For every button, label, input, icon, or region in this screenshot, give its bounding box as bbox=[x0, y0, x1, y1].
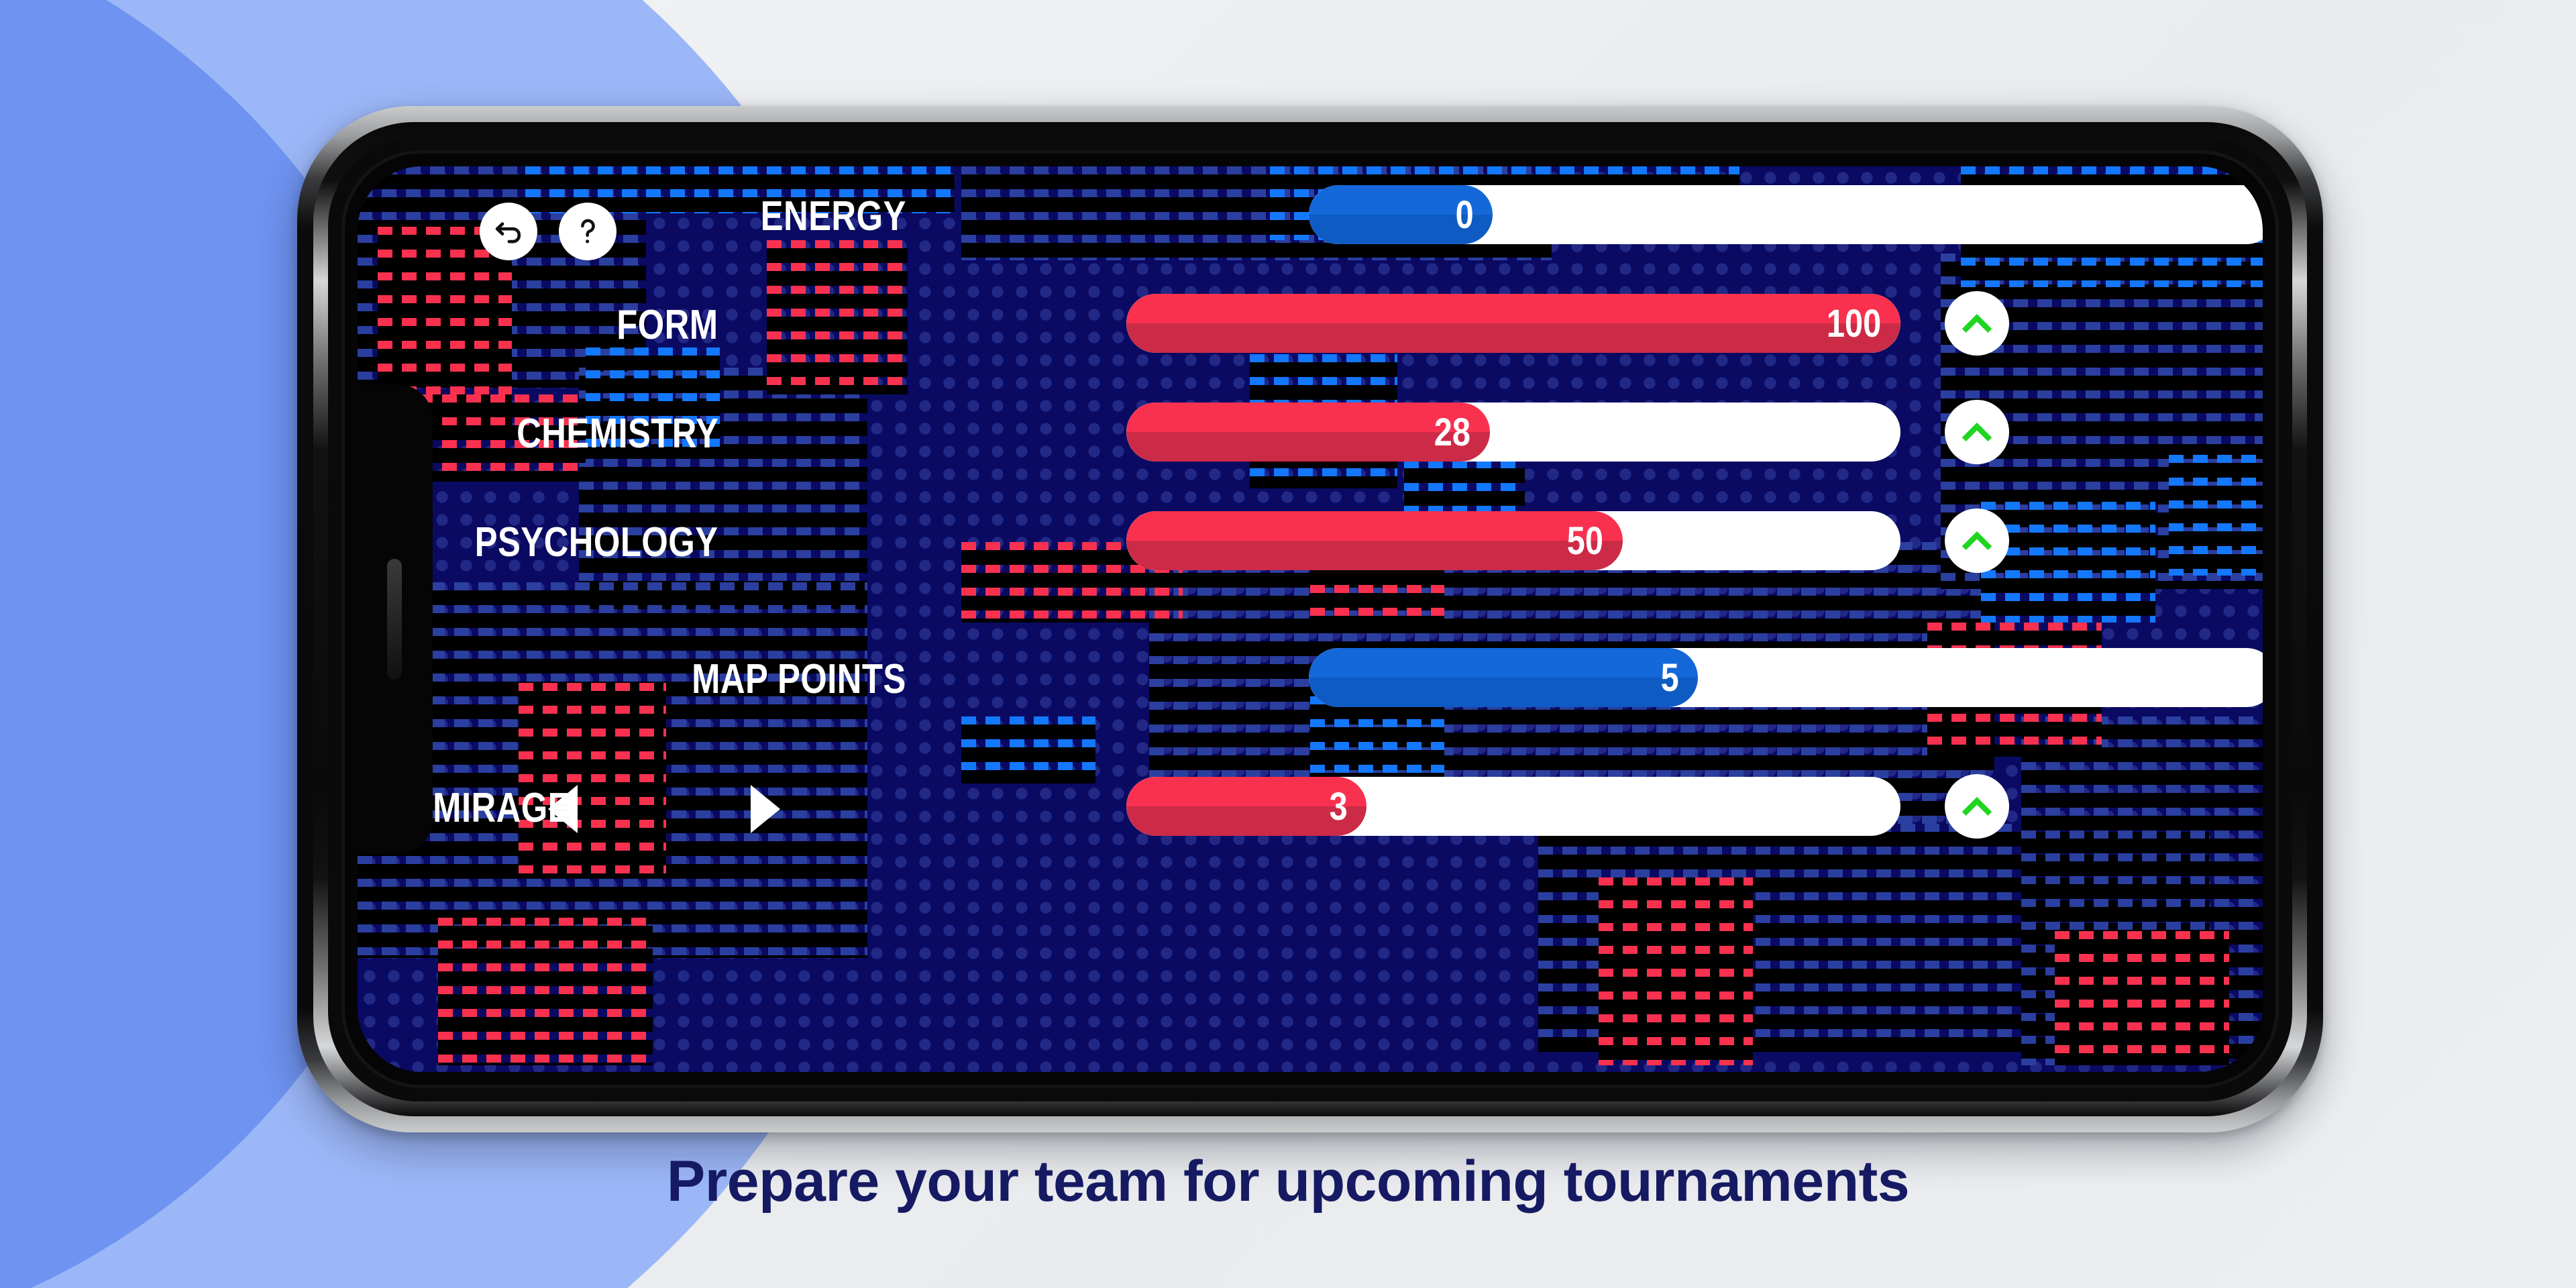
upgrade-button-psychology[interactable] bbox=[1945, 508, 2009, 573]
stat-row-form: FORM 100 bbox=[358, 294, 2263, 357]
stat-fill-energy: 0 bbox=[1309, 185, 1493, 244]
map-points-fill: 3 bbox=[1126, 777, 1366, 836]
stat-label-psychology: PSYCHOLOGY bbox=[475, 511, 718, 574]
stat-value-form: 100 bbox=[1827, 301, 1900, 346]
stat-fill-psychology: 50 bbox=[1126, 511, 1623, 570]
stat-track-map-points[interactable]: 5 bbox=[1309, 648, 2263, 707]
chevron-up-icon bbox=[1957, 304, 1996, 343]
stat-value-psychology: 50 bbox=[1567, 519, 1623, 563]
stat-label-energy: ENERGY bbox=[761, 185, 906, 248]
stat-fill-form: 100 bbox=[1126, 294, 1900, 353]
stat-row-chemistry: CHEMISTRY 28 bbox=[358, 402, 2263, 466]
upgrade-button-map[interactable] bbox=[1945, 774, 2009, 839]
chevron-up-icon bbox=[1957, 787, 1996, 826]
stat-label-map-points: MAP POINTS bbox=[692, 648, 906, 711]
phone-screen: ENERGY 0 FORM 100 bbox=[358, 166, 2263, 1072]
stat-fill-chemistry: 28 bbox=[1126, 402, 1490, 462]
app-store-screenshot: ENERGY 0 FORM 100 bbox=[0, 0, 2576, 1288]
map-selector-row: MIRAGE 3 bbox=[358, 777, 2263, 840]
stat-track-form[interactable]: 100 bbox=[1126, 294, 1900, 353]
stat-value-chemistry: 28 bbox=[1434, 410, 1490, 455]
chevron-up-icon bbox=[1957, 521, 1996, 560]
upgrade-button-form[interactable] bbox=[1945, 291, 2009, 356]
stat-track-energy[interactable]: 0 bbox=[1309, 185, 2263, 244]
triangle-right-icon[interactable] bbox=[751, 785, 780, 833]
stat-row-psychology: PSYCHOLOGY 50 bbox=[358, 511, 2263, 574]
stat-value-map-points: 5 bbox=[1660, 655, 1698, 700]
stat-row-map-points: MAP POINTS 5 bbox=[358, 648, 2263, 711]
stat-fill-map-points: 5 bbox=[1309, 648, 1698, 707]
map-name-label: MIRAGE bbox=[433, 777, 571, 840]
stat-row-energy: ENERGY 0 bbox=[358, 185, 2263, 248]
map-points-value: 3 bbox=[1329, 784, 1366, 829]
map-points-track[interactable]: 3 bbox=[1126, 777, 1900, 836]
caption-text: Prepare your team for upcoming tournamen… bbox=[0, 1148, 2576, 1215]
stat-label-chemistry: CHEMISTRY bbox=[517, 402, 718, 466]
upgrade-button-chemistry[interactable] bbox=[1945, 400, 2009, 464]
stat-value-energy: 0 bbox=[1455, 193, 1493, 237]
chevron-up-icon bbox=[1957, 413, 1996, 451]
phone-device-frame: ENERGY 0 FORM 100 bbox=[297, 106, 2323, 1132]
stat-track-chemistry[interactable]: 28 bbox=[1126, 402, 1900, 462]
stat-label-form: FORM bbox=[617, 294, 718, 357]
stat-track-psychology[interactable]: 50 bbox=[1126, 511, 1900, 570]
